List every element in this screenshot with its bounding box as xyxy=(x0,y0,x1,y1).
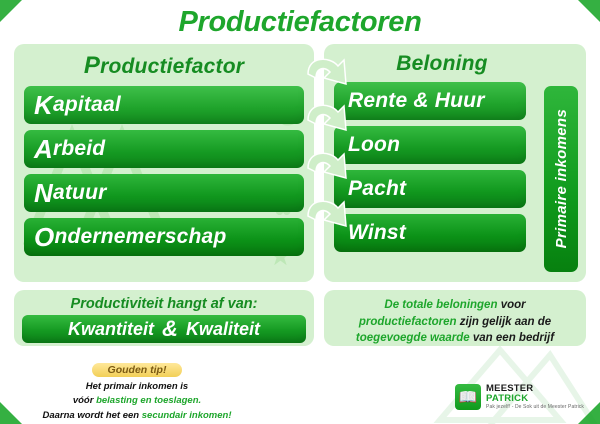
arrow-icon-3 xyxy=(308,153,346,178)
arrow-icon-4 xyxy=(308,201,346,226)
factor-natuur-label: atuur xyxy=(53,181,107,205)
tip-l3-g: secundair inkomen! xyxy=(142,410,232,421)
factor-ondernemerschap-initial: O xyxy=(34,222,54,253)
factor-natuur-initial: N xyxy=(34,178,53,209)
gouden-tip-line-1: Het primair inkomen is xyxy=(22,380,252,394)
ampersand-label: & xyxy=(162,316,178,342)
factor-arbeid-label: rbeid xyxy=(53,137,105,161)
panel-right-heading: Beloning xyxy=(324,52,576,76)
tw-line1-rest: voor xyxy=(501,299,526,311)
productiviteit-box: Productiviteit hangt af van: Kwantiteit … xyxy=(14,290,314,346)
page-title: Productiefactoren xyxy=(0,6,600,39)
productiviteit-title: Productiviteit hangt af van: xyxy=(22,296,306,312)
primaire-inkomens-text: Primaire inkomens xyxy=(553,109,570,248)
factor-kapitaal-initial: K xyxy=(34,90,53,121)
mapping-arrows xyxy=(300,44,360,282)
tip-l2-a: vóór xyxy=(73,395,96,406)
arrow-icon-1 xyxy=(308,59,346,84)
panel-beloning: Beloning Rente & Huur Loon Pacht Winst P… xyxy=(324,44,586,282)
kwantiteit-label: Kwantiteit xyxy=(68,319,154,340)
panel-productiefactor: € ♟ ✿ ★ Productiefactor Kapitaal Arbeid … xyxy=(14,44,314,282)
tip-l3-a: Daarna wordt het een xyxy=(43,410,142,421)
book-icon: 📖 xyxy=(455,384,481,410)
kwantiteit-kwaliteit-bar[interactable]: Kwantiteit & Kwaliteit xyxy=(22,315,306,343)
beloning-row-rente-huur[interactable]: Rente & Huur xyxy=(334,82,526,120)
arrow-icon-2 xyxy=(308,105,346,130)
tw-line1-highlight: De totale beloningen xyxy=(384,299,497,311)
panel-left-heading: Productiefactor xyxy=(24,52,304,80)
panel-left-heading-rest: roductiefactor xyxy=(100,55,244,78)
gouden-tip: Gouden tip! Het primair inkomen is vóór … xyxy=(22,360,252,423)
beloning-row-loon[interactable]: Loon xyxy=(334,126,526,164)
tip-l2-g: belasting en toeslagen. xyxy=(96,395,201,406)
panel-left-heading-cap: P xyxy=(84,52,100,79)
tw-line3-rest: van een bedrijf xyxy=(473,332,554,344)
factor-arbeid-initial: A xyxy=(34,134,53,165)
gouden-tip-line-2: vóór belasting en toeslagen. xyxy=(22,394,252,408)
toegevoegde-waarde-box: De totale beloningen voor productiefacto… xyxy=(324,290,586,346)
tw-line2-rest: zijn gelijk aan de xyxy=(460,316,551,328)
tw-line3-highlight: toegevoegde waarde xyxy=(356,332,470,344)
toegevoegde-waarde-text: De totale beloningen voor productiefacto… xyxy=(334,297,576,347)
logo-subtitle: Pak jezelf! - De Sok uit de Meester Patr… xyxy=(486,404,584,410)
tw-line2-highlight: productiefactoren xyxy=(359,316,457,328)
factor-kapitaal-label: apitaal xyxy=(53,93,121,117)
corner-triangle-bottom-left xyxy=(0,400,24,424)
beloning-rente-huur-label: Rente & Huur xyxy=(348,89,485,113)
factor-row-natuur[interactable]: Natuur xyxy=(24,174,304,212)
factor-row-ondernemerschap[interactable]: Ondernemerschap xyxy=(24,218,304,256)
factor-ondernemerschap-label: ndernemerschap xyxy=(54,225,226,249)
beloning-row-winst[interactable]: Winst xyxy=(334,214,526,252)
factor-row-arbeid[interactable]: Arbeid xyxy=(24,130,304,168)
beloning-row-pacht[interactable]: Pacht xyxy=(334,170,526,208)
logo[interactable]: 📖 MEESTER PATRICK Pak jezelf! - De Sok u… xyxy=(455,384,584,410)
primaire-inkomens-label: Primaire inkomens xyxy=(544,86,578,272)
factor-row-kapitaal[interactable]: Kapitaal xyxy=(24,86,304,124)
gouden-tip-header: Gouden tip! xyxy=(92,363,183,377)
kwaliteit-label: Kwaliteit xyxy=(186,319,260,340)
logo-name-line2: PATRICK xyxy=(486,394,584,404)
gouden-tip-line-3: Daarna wordt het een secundair inkomen! xyxy=(22,409,252,423)
